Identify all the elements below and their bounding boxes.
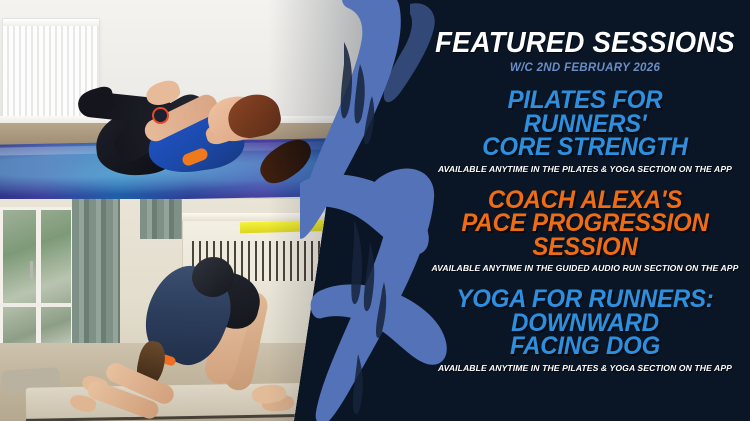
page-title: FEATURED SESSIONS <box>428 0 742 58</box>
week-commencing-subtitle: W/C 2ND FEBRUARY 2026 <box>420 62 750 74</box>
session-availability-3: AVAILABLE ANYTIME IN THE PILATES & YOGA … <box>420 363 750 373</box>
session-block-2[interactable]: COACH ALEXA'S PACE PROGRESSION SESSION A… <box>420 189 750 274</box>
session-title-1: PILATES FOR RUNNERS' CORE STRENGTH <box>427 89 744 160</box>
radiator-top <box>3 19 99 26</box>
door-mullion <box>36 207 41 355</box>
door-handle[interactable] <box>30 261 33 279</box>
text-column: FEATURED SESSIONS W/C 2ND FEBRUARY 2026 … <box>420 0 750 421</box>
session-title-3: YOGA FOR RUNNERS: DOWNWARD FACING DOG <box>427 288 744 359</box>
downward-facing-dog-photo <box>0 199 372 421</box>
session-title-line: SESSION <box>427 236 744 260</box>
session-title-line: PILATES FOR <box>427 89 744 113</box>
session-title-line: COACH ALEXA'S <box>427 189 744 213</box>
green-curtain-left <box>72 199 120 367</box>
session-title-line: FACING DOG <box>427 335 744 359</box>
session-availability-1: AVAILABLE ANYTIME IN THE PILATES & YOGA … <box>420 164 750 174</box>
session-block-1[interactable]: PILATES FOR RUNNERS' CORE STRENGTH AVAIL… <box>420 89 750 174</box>
session-block-3[interactable]: YOGA FOR RUNNERS: DOWNWARD FACING DOG AV… <box>420 288 750 373</box>
sofa <box>330 277 372 371</box>
green-curtain-right <box>140 199 182 239</box>
session-title-line: CORE STRENGTH <box>427 136 744 160</box>
pilates-core-strength-photo <box>0 0 372 199</box>
session-availability-2: AVAILABLE ANYTIME IN THE GUIDED AUDIO RU… <box>420 263 750 273</box>
session-title-line: YOGA FOR RUNNERS: <box>427 288 744 312</box>
session-title-2: COACH ALEXA'S PACE PROGRESSION SESSION <box>427 189 744 260</box>
featured-sessions-poster: FEATURED SESSIONS W/C 2ND FEBRUARY 2026 … <box>0 0 750 421</box>
photo-collage <box>0 0 372 421</box>
door-rail <box>0 303 74 307</box>
